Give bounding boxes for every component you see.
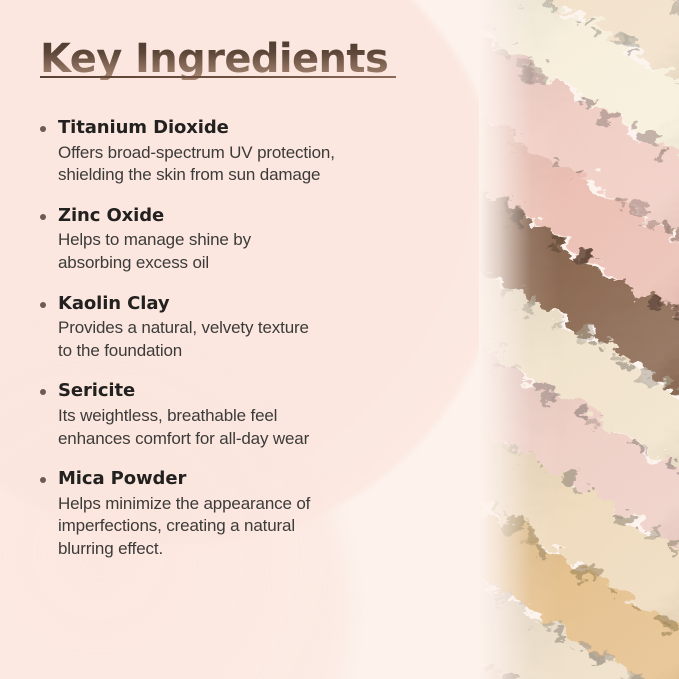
ingredient-description: Offers broad-spectrum UV protection, shi… bbox=[58, 142, 458, 187]
bullet-dot-icon bbox=[40, 214, 46, 220]
list-item: Sericite Its weightless, breathable feel… bbox=[38, 380, 458, 450]
bullet-dot-icon bbox=[40, 126, 46, 132]
list-item: Zinc Oxide Helps to manage shine by abso… bbox=[38, 205, 458, 275]
list-item: Titanium Dioxide Offers broad-spectrum U… bbox=[38, 117, 458, 187]
ingredient-name: Titanium Dioxide bbox=[58, 117, 458, 139]
powder-swatch-image bbox=[479, 0, 679, 679]
page-title-block: Key Ingredients bbox=[40, 38, 440, 78]
list-item: Mica Powder Helps minimize the appearanc… bbox=[38, 468, 458, 560]
powder-swatch-graphic bbox=[479, 0, 679, 679]
ingredient-description: Its weightless, breathable feel enhances… bbox=[58, 405, 458, 450]
ingredient-name: Mica Powder bbox=[58, 468, 458, 490]
ingredient-description: Helps minimize the appearance of imperfe… bbox=[58, 493, 458, 561]
ingredient-name: Zinc Oxide bbox=[58, 205, 458, 227]
list-item: Kaolin Clay Provides a natural, velvety … bbox=[38, 293, 458, 363]
key-ingredients-infographic: Key Ingredients Titanium Dioxide Offers … bbox=[0, 0, 679, 679]
ingredients-list: Titanium Dioxide Offers broad-spectrum U… bbox=[38, 117, 458, 561]
page-title: Key Ingredients bbox=[40, 38, 440, 80]
text-column: Key Ingredients Titanium Dioxide Offers … bbox=[0, 0, 470, 679]
bullet-dot-icon bbox=[40, 389, 46, 395]
ingredient-name: Kaolin Clay bbox=[58, 293, 458, 315]
bullet-dot-icon bbox=[40, 302, 46, 308]
ingredient-description: Helps to manage shine by absorbing exces… bbox=[58, 229, 458, 274]
ingredient-name: Sericite bbox=[58, 380, 458, 402]
bullet-dot-icon bbox=[40, 477, 46, 483]
ingredient-description: Provides a natural, velvety texture to t… bbox=[58, 317, 458, 362]
